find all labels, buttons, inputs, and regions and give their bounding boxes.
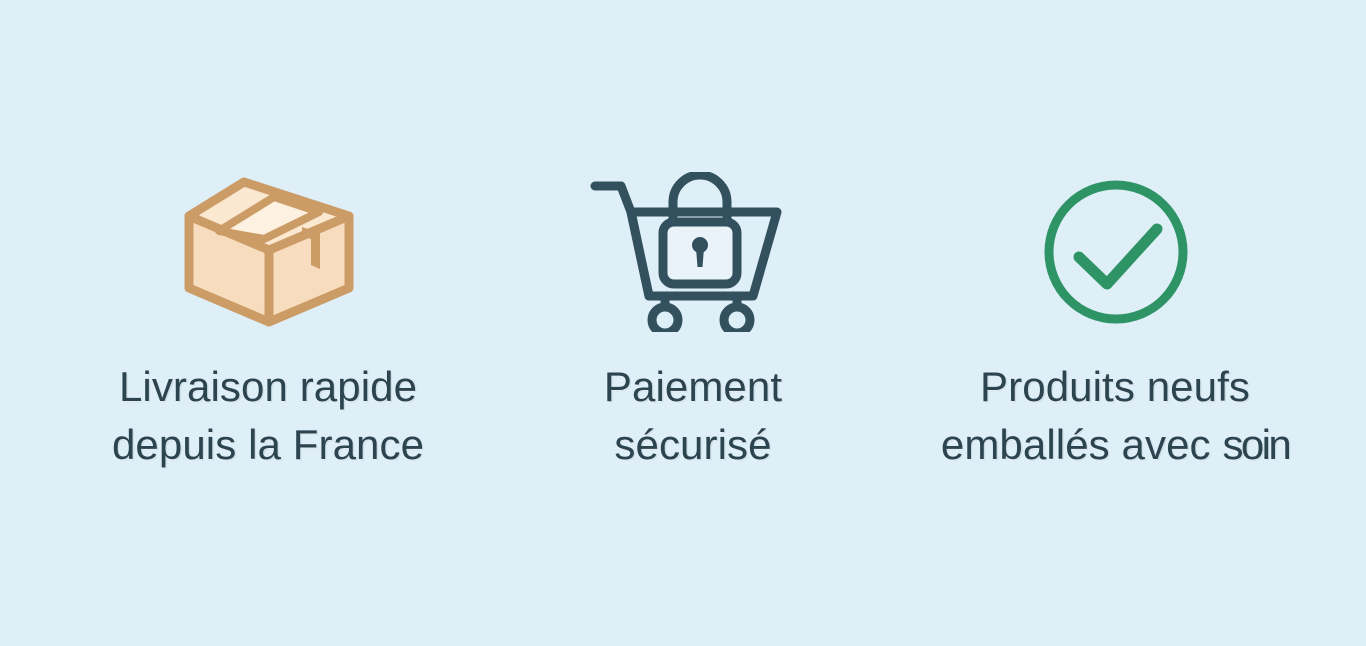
cart-wheel-left (652, 307, 678, 332)
caption-line-2: emballés avec soin (941, 416, 1289, 474)
feature-caption: Livraison rapide depuis la France (112, 358, 424, 474)
feature-item-produits: Produits neufs emballés avec soin (900, 172, 1330, 474)
caption-line-2-text: emballés avec (941, 421, 1223, 468)
caption-line-1: Paiement (604, 358, 782, 416)
check-circle-icon (1041, 177, 1191, 327)
trust-badges-bar: Livraison rapide depuis la France (0, 0, 1366, 646)
check-circle-ring (1049, 185, 1183, 319)
feature-item-livraison: Livraison rapide depuis la France (68, 172, 468, 474)
caption-line-2-emphasis: soin (1222, 416, 1289, 474)
lock-shackle (673, 175, 727, 224)
secure-cart-lock-icon (587, 172, 787, 332)
secure-cart-lock-icon-wrapper (599, 172, 787, 332)
checkmark-glyph (1079, 229, 1157, 284)
feature-item-paiement: Paiement sécurisé (513, 172, 873, 474)
caption-line-2: depuis la France (112, 416, 424, 474)
caption-line-1: Livraison rapide (112, 358, 424, 416)
cart-wheel-right (724, 307, 750, 332)
check-circle-icon-wrapper (1039, 172, 1191, 332)
package-box-icon (183, 177, 355, 327)
cart-handle (595, 186, 631, 212)
feature-caption: Produits neufs emballés avec soin (941, 358, 1289, 474)
feature-caption: Paiement sécurisé (604, 358, 782, 474)
caption-line-1: Produits neufs (941, 358, 1289, 416)
caption-line-2: sécurisé (604, 416, 782, 474)
package-box-icon-wrapper (181, 172, 355, 332)
